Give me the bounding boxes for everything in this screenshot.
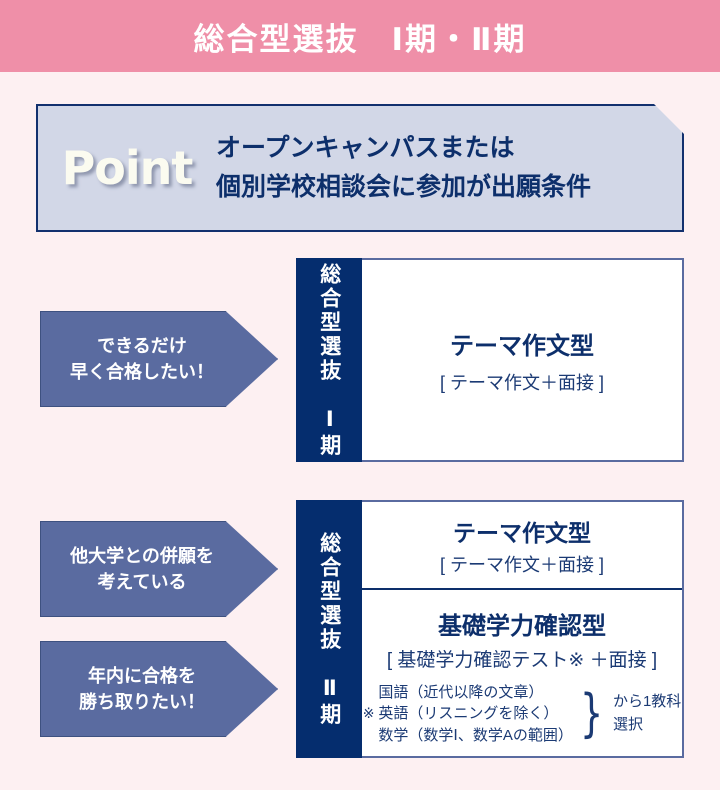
track-period-1-body: テーマ作文型 [ テーマ作文＋面接 ] [362, 258, 684, 462]
curly-brace-icon: } [580, 694, 603, 735]
subject-note: ※ 国語（近代以降の文章） 英語（リスニングを除く） 数学（数学Ⅰ、数学Aの範囲… [363, 682, 682, 746]
arrow-early-pass: できるだけ 早く合格したい！ [40, 311, 278, 407]
section-theme-essay-1-subtitle: [ テーマ作文＋面接 ] [440, 369, 604, 395]
arrow-within-year-line-2: 勝ち取りたい！ [79, 689, 239, 715]
track-period-1-tab: 総合型選抜 Ⅰ期 [296, 258, 362, 462]
track-period-2: 総合型選抜 Ⅱ期 テーマ作文型 [ テーマ作文＋面接 ] 基礎学力確認型 [ 基… [296, 500, 684, 758]
subject-item-japanese: 国語（近代以降の文章） [378, 682, 572, 703]
section-theme-essay-2-title: テーマ作文型 [453, 514, 591, 548]
arrow-early-pass-line-2: 早く合格したい！ [70, 359, 248, 385]
section-basic-ability-title: 基礎学力確認型 [438, 606, 606, 641]
arrow-other-university: 他大学との併願を 考えている [40, 521, 278, 617]
point-line-2: 個別学校相談会に参加が出願条件 [216, 168, 682, 207]
choose-note: から1教科 選択 [613, 691, 681, 736]
point-text-block: オープンキャンパスまたは 個別学校相談会に参加が出願条件 [216, 129, 682, 207]
track-period-2-tab: 総合型選抜 Ⅱ期 [296, 500, 362, 758]
subject-list: 国語（近代以降の文章） 英語（リスニングを除く） 数学（数学Ⅰ、数学Aの範囲） [378, 682, 572, 746]
section-theme-essay-2-subtitle: [ テーマ作文＋面接 ] [440, 551, 604, 577]
arrow-other-university-line-1: 他大学との併願を [70, 543, 248, 569]
track-period-1: 総合型選抜 Ⅰ期 テーマ作文型 [ テーマ作文＋面接 ] [296, 258, 684, 462]
track-period-2-tab-label: 総合型選抜 Ⅱ期 [317, 532, 341, 727]
point-line-1: オープンキャンパスまたは [216, 129, 682, 168]
point-label: Point [38, 141, 216, 195]
page-header: 総合型選抜 Ⅰ期・Ⅱ期 [0, 0, 720, 72]
section-basic-ability-subtitle: [ 基礎学力確認テスト※ ＋面接 ] [387, 645, 657, 672]
arrow-early-pass-line-1: できるだけ [97, 333, 221, 359]
arrow-other-university-line-2: 考えている [97, 569, 220, 595]
arrow-within-year-line-1: 年内に合格を [88, 663, 230, 689]
section-theme-essay-1: テーマ作文型 [ テーマ作文＋面接 ] [362, 260, 682, 460]
track-period-2-body: テーマ作文型 [ テーマ作文＋面接 ] 基礎学力確認型 [ 基礎学力確認テスト※… [362, 500, 684, 758]
track-period-1-tab-label: 総合型選抜 Ⅰ期 [317, 263, 341, 458]
section-theme-essay-2: テーマ作文型 [ テーマ作文＋面接 ] [362, 502, 682, 590]
subject-item-math: 数学（数学Ⅰ、数学Aの範囲） [378, 725, 572, 746]
subject-item-english: 英語（リスニングを除く） [378, 703, 572, 724]
arrow-within-year: 年内に合格を 勝ち取りたい！ [40, 641, 278, 737]
choose-note-line-2: 選択 [613, 714, 681, 737]
section-basic-ability: 基礎学力確認型 [ 基礎学力確認テスト※ ＋面接 ] ※ 国語（近代以降の文章）… [362, 590, 682, 756]
section-theme-essay-1-title: テーマ作文型 [450, 326, 594, 361]
point-banner: Point オープンキャンパスまたは 個別学校相談会に参加が出願条件 [36, 104, 684, 232]
choose-note-line-1: から1教科 [613, 691, 681, 714]
page-title: 総合型選抜 Ⅰ期・Ⅱ期 [194, 14, 527, 59]
subject-note-mark: ※ [363, 705, 375, 722]
